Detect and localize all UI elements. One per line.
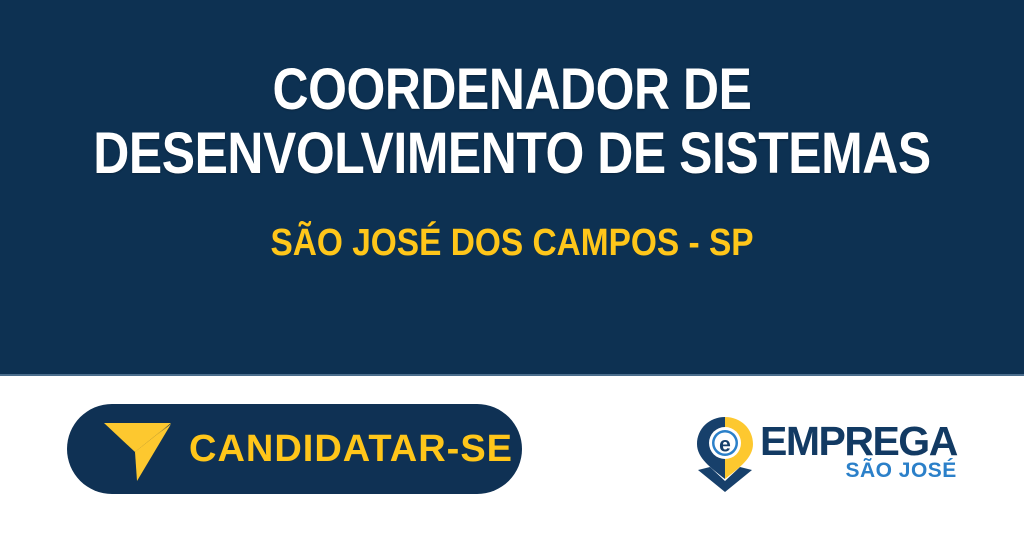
footer-bar: Candidatar-se e Emprega São José <box>0 378 1024 538</box>
brand-logo: e Emprega São José <box>694 415 926 495</box>
apply-button[interactable]: Candidatar-se <box>67 404 522 494</box>
page-title: Coordenador de Desenvolvimento de Sistem… <box>72 58 953 186</box>
svg-text:e: e <box>719 434 731 457</box>
brand-wordmark: Emprega São José <box>760 421 957 482</box>
brand-subtitle: São José <box>845 460 956 482</box>
job-vacancy-card: Coordenador de Desenvolvimento de Sistem… <box>0 0 1024 538</box>
map-pin-e-icon: e <box>694 415 756 493</box>
job-location: São José dos Campos - SP <box>61 222 962 264</box>
hero-banner: Coordenador de Desenvolvimento de Sistem… <box>0 0 1024 376</box>
send-plane-icon <box>101 415 175 483</box>
apply-button-label: Candidatar-se <box>189 428 513 471</box>
brand-name: Emprega <box>760 421 957 461</box>
